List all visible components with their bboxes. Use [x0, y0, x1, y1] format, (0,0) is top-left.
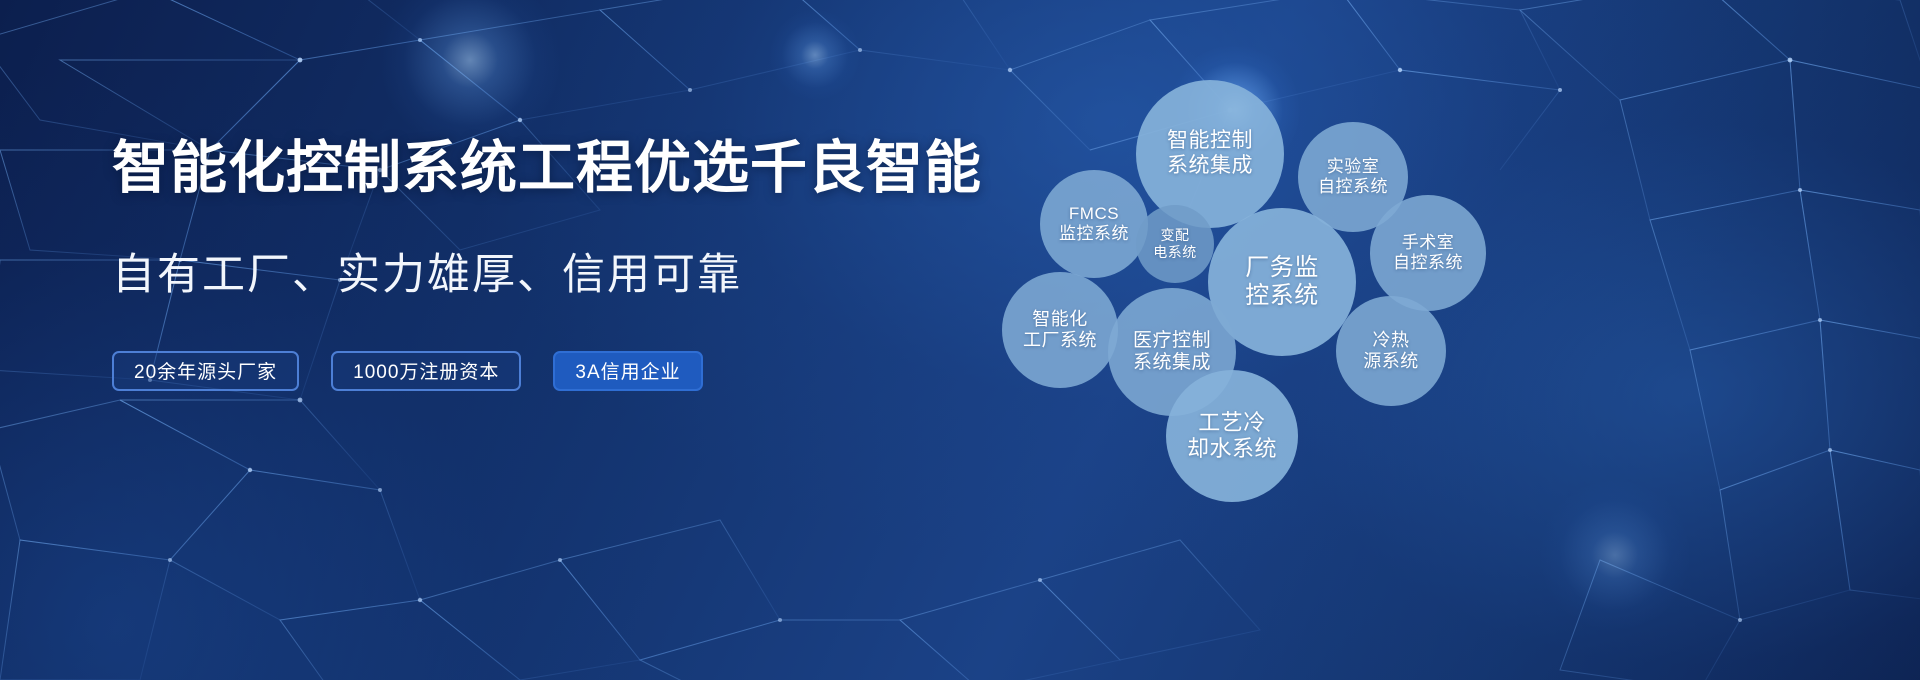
badge-list: 20余年源头厂家 1000万注册资本 3A信用企业 [112, 351, 972, 391]
bubble-line: FMCS [1059, 204, 1129, 224]
page-title: 智能化控制系统工程优选千良智能 [112, 138, 972, 200]
banner-subtitle: 自有工厂、实力雄厚、信用可靠 [112, 252, 972, 299]
bubble-line: 监控系统 [1059, 224, 1129, 244]
bubble-line: 自控系统 [1318, 177, 1388, 197]
bubble-line: 智能化 [1023, 309, 1097, 330]
bubble-fmcs-monitoring[interactable]: FMCS 监控系统 [1040, 170, 1148, 278]
hero-banner: 智能化控制系统工程优选千良智能 自有工厂、实力雄厚、信用可靠 20余年源头厂家 … [0, 0, 1920, 680]
bubble-line: 手术室 [1393, 233, 1463, 253]
bubble-line: 控系统 [1245, 282, 1319, 310]
bubble-process-cooling-water[interactable]: 工艺冷 却水系统 [1166, 370, 1298, 502]
badge-capital[interactable]: 1000万注册资本 [331, 351, 521, 391]
bubble-power-distribution[interactable]: 变配 电系统 [1136, 205, 1214, 283]
service-bubble-cluster: 智能控制 系统集成 实验室 自控系统 FMCS 监控系统 变配 电系统 [1150, 40, 1850, 640]
bubble-line: 却水系统 [1187, 436, 1277, 462]
badge-credit-rating[interactable]: 3A信用企业 [553, 351, 702, 391]
bubble-line: 系统集成 [1167, 154, 1253, 179]
bubble-line: 系统集成 [1133, 352, 1211, 374]
bubble-line: 工厂系统 [1023, 330, 1097, 351]
banner-copy: 智能化控制系统工程优选千良智能 自有工厂、实力雄厚、信用可靠 20余年源头厂家 … [112, 138, 972, 391]
bubble-intelligent-control-integration[interactable]: 智能控制 系统集成 [1136, 80, 1284, 228]
bubble-smart-factory-system[interactable]: 智能化 工厂系统 [1002, 272, 1118, 388]
bubble-line: 实验室 [1318, 157, 1388, 177]
badge-years[interactable]: 20余年源头厂家 [112, 351, 299, 391]
bubble-line: 变配 [1153, 227, 1197, 244]
bubble-line: 医疗控制 [1133, 330, 1211, 352]
bubble-line: 电系统 [1153, 244, 1197, 261]
bubble-line: 智能控制 [1167, 129, 1253, 154]
bubble-line: 工艺冷 [1187, 410, 1277, 436]
bubble-line: 自控系统 [1393, 253, 1463, 273]
bubble-line: 源系统 [1363, 351, 1419, 372]
bubble-heating-cooling-source[interactable]: 冷热 源系统 [1336, 296, 1446, 406]
bubble-line: 冷热 [1363, 330, 1419, 351]
bubble-line: 厂务监 [1245, 254, 1319, 282]
bubble-operating-room-automation[interactable]: 手术室 自控系统 [1370, 195, 1486, 311]
